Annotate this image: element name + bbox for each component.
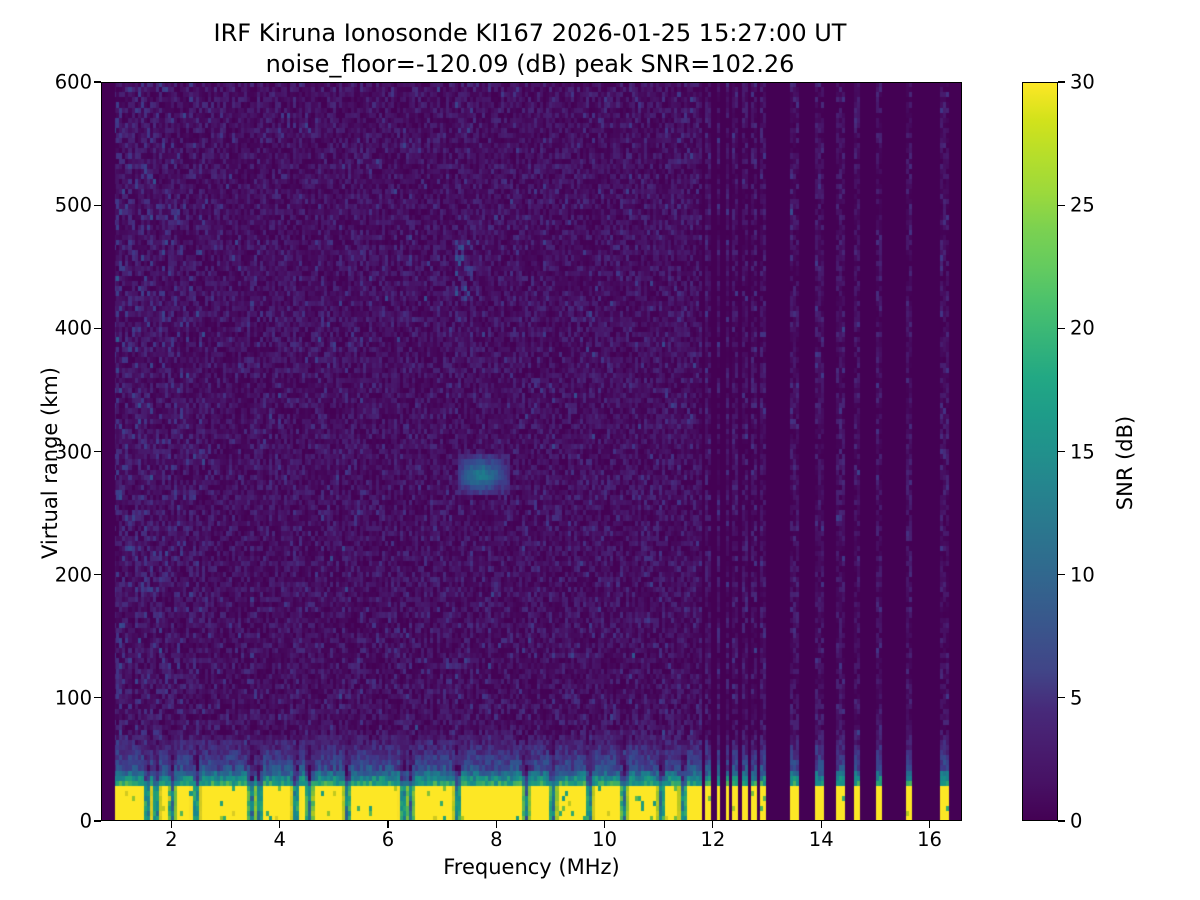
colorbar-tick-label: 5 (1070, 686, 1082, 709)
colorbar-tick-label: 0 (1070, 810, 1082, 833)
x-tick-mark (496, 821, 497, 828)
x-tick-label: 16 (890, 828, 970, 851)
y-tick-label: 0 (0, 810, 92, 833)
ionogram-figure: IRF Kiruna Ionosonde KI167 2026-01-25 15… (0, 0, 1200, 900)
colorbar-tick-label: 20 (1070, 317, 1095, 340)
y-tick-mark (94, 328, 101, 329)
colorbar-tick-label: 15 (1070, 440, 1095, 463)
x-tick-label: 2 (131, 828, 211, 851)
title-line-1: IRF Kiruna Ionosonde KI167 2026-01-25 15… (0, 18, 1060, 49)
x-tick-mark (171, 821, 172, 828)
x-tick-mark (604, 821, 605, 828)
figure-title: IRF Kiruna Ionosonde KI167 2026-01-25 15… (0, 18, 1060, 79)
y-axis-label: Virtual range (km) (38, 313, 62, 613)
y-tick-mark (94, 820, 101, 821)
colorbar-tick-mark (1058, 205, 1065, 206)
ionogram-heatmap (101, 82, 962, 821)
title-line-2: noise_floor=-120.09 (dB) peak SNR=102.26 (0, 49, 1060, 80)
x-tick-mark (387, 821, 388, 828)
colorbar-tick-label: 25 (1070, 194, 1095, 217)
colorbar-tick-label: 10 (1070, 563, 1095, 586)
x-tick-label: 6 (348, 828, 428, 851)
y-tick-mark (94, 574, 101, 575)
y-tick-mark (94, 451, 101, 452)
colorbar-tick-mark (1058, 451, 1065, 452)
y-tick-label: 600 (0, 71, 92, 94)
x-tick-label: 4 (240, 828, 320, 851)
colorbar-tick-mark (1058, 81, 1065, 82)
colorbar-tick-mark (1058, 574, 1065, 575)
heatmap-canvas (101, 82, 962, 821)
x-tick-label: 8 (456, 828, 536, 851)
x-tick-mark (929, 821, 930, 828)
y-tick-mark (94, 697, 101, 698)
x-tick-mark (712, 821, 713, 828)
x-tick-label: 12 (673, 828, 753, 851)
y-tick-label: 500 (0, 194, 92, 217)
colorbar-label: SNR (dB) (1113, 313, 1137, 613)
x-tick-label: 10 (565, 828, 645, 851)
x-tick-label: 14 (781, 828, 861, 851)
y-tick-mark (94, 205, 101, 206)
x-axis-label: Frequency (MHz) (101, 855, 962, 879)
colorbar-tick-mark (1058, 820, 1065, 821)
colorbar (1022, 82, 1058, 821)
y-tick-label: 100 (0, 686, 92, 709)
y-tick-mark (94, 81, 101, 82)
colorbar-tick-label: 30 (1070, 71, 1095, 94)
colorbar-tick-mark (1058, 697, 1065, 698)
x-tick-mark (279, 821, 280, 828)
x-tick-mark (821, 821, 822, 828)
colorbar-tick-mark (1058, 328, 1065, 329)
